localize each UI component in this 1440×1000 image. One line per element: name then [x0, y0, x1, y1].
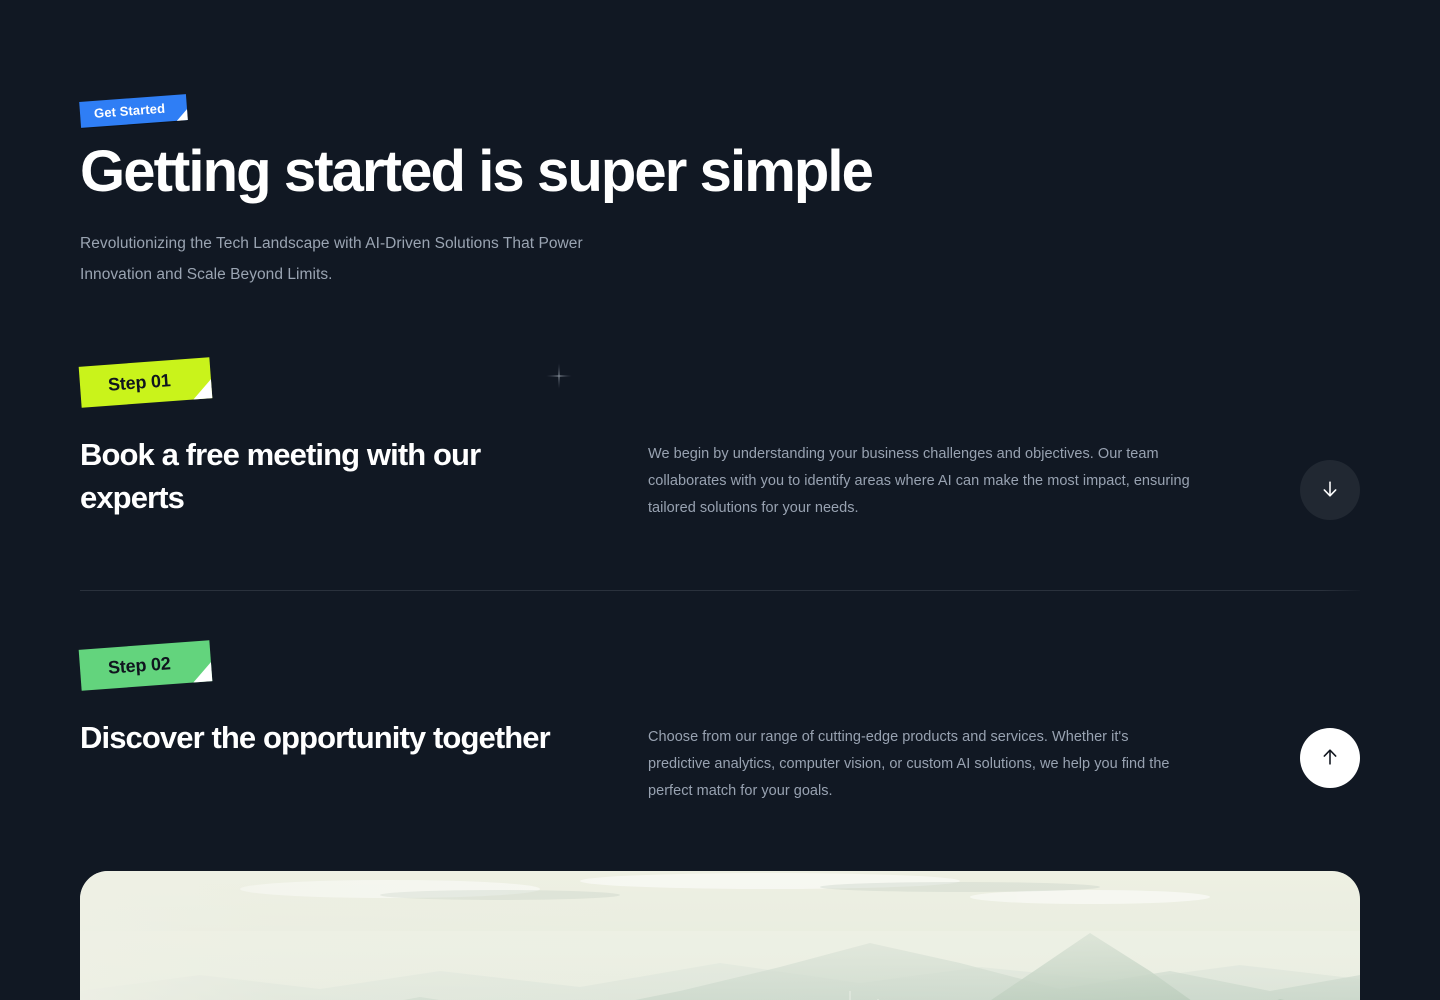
step-item: Step 01 Book a free meeting with our exp… [80, 362, 1360, 522]
step-badge: Step 01 [79, 357, 212, 407]
step-badge: Step 02 [79, 640, 212, 690]
hero-section: Get Started Getting started is super sim… [80, 98, 1080, 290]
badge-fold-corner [176, 109, 188, 121]
step-heading: Book a free meeting with our experts [80, 433, 580, 519]
badge-fold-corner [192, 379, 212, 399]
step-description: Choose from our range of cutting-edge pr… [648, 724, 1193, 805]
landscape-image-card [80, 871, 1360, 1000]
step-divider [80, 590, 1360, 591]
page-root: Get Started Getting started is super sim… [0, 0, 1440, 1000]
step-toggle-button[interactable] [1300, 460, 1360, 520]
get-started-badge-label: Get Started [79, 94, 188, 128]
arrow-down-icon [1319, 478, 1341, 503]
step-item: Step 02 Discover the opportunity togethe… [80, 645, 1360, 805]
step-heading: Discover the opportunity together [80, 716, 580, 759]
get-started-badge: Get Started [79, 94, 188, 128]
step-toggle-button[interactable] [1300, 728, 1360, 788]
step-content-row: Book a free meeting with our experts We … [80, 433, 1360, 522]
badge-fold-corner [192, 662, 212, 682]
step-description: We begin by understanding your business … [648, 441, 1193, 522]
page-subtitle: Revolutionizing the Tech Landscape with … [80, 228, 640, 290]
page-title: Getting started is super simple [80, 142, 1080, 202]
step-content-row: Discover the opportunity together Choose… [80, 716, 1360, 805]
arrow-up-icon [1319, 746, 1341, 771]
